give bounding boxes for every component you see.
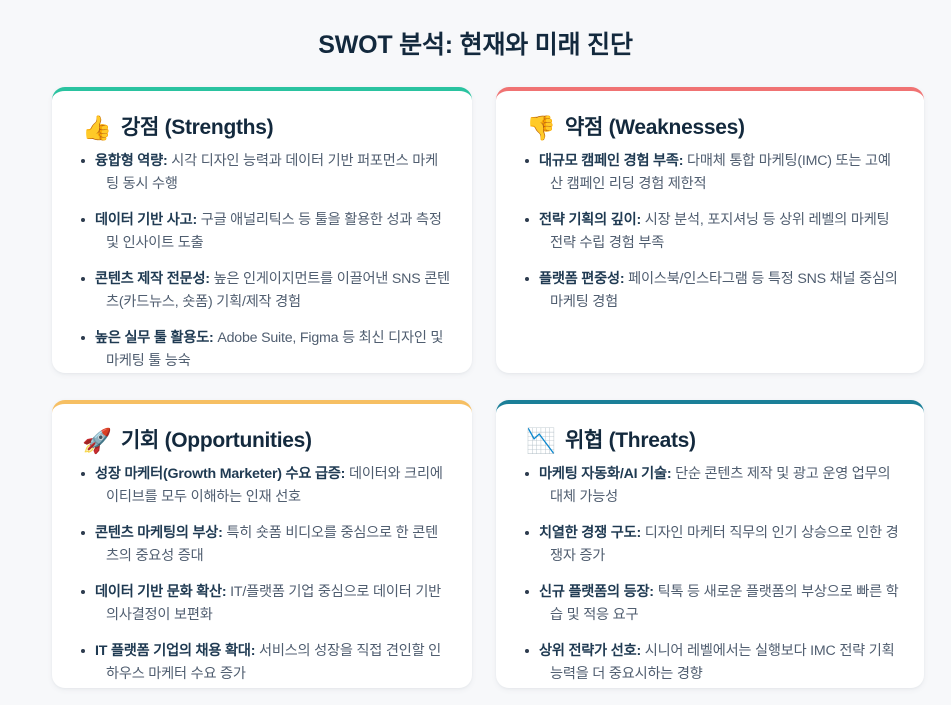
bullet-label: 데이터 기반 문화 확산:	[95, 584, 226, 600]
list-item: 치열한 경쟁 구도: 디자인 마케터 직무의 인기 상승으로 인한 경쟁자 증가	[518, 522, 902, 568]
bullet-label: 상위 전략가 선호:	[539, 643, 641, 659]
card-header-threats: 📉 위협 (Threats)	[526, 428, 902, 453]
list-item: 데이터 기반 사고: 구글 애널리틱스 등 툴을 활용한 성과 측정 및 인사이…	[74, 209, 450, 255]
list-item: 신규 플랫폼의 등장: 틱톡 등 새로운 플랫폼의 부상으로 빠른 학습 및 적…	[518, 581, 902, 627]
list-item: 마케팅 자동화/AI 기술: 단순 콘텐츠 제작 및 광고 운영 업무의 대체 …	[518, 463, 902, 509]
bullet-label: 융합형 역량:	[95, 153, 168, 169]
bullet-label: 데이터 기반 사고:	[95, 212, 197, 228]
bullet-list-opportunities: 성장 마케터(Growth Marketer) 수요 급증: 데이터와 크리에이…	[74, 463, 450, 686]
card-header-weaknesses: 👎 약점 (Weaknesses)	[526, 115, 902, 140]
thumbs-up-icon: 👍	[82, 116, 110, 140]
bullet-label: 콘텐츠 마케팅의 부상:	[95, 525, 223, 541]
list-item: 콘텐츠 마케팅의 부상: 특히 숏폼 비디오를 중심으로 한 콘텐츠의 중요성 …	[74, 522, 450, 568]
rocket-icon: 🚀	[82, 429, 110, 453]
swot-grid: 👍 강점 (Strengths) 융합형 역량: 시각 디자인 능력과 데이터 …	[0, 60, 951, 688]
card-title-weaknesses: 약점 (Weaknesses)	[565, 115, 745, 140]
bullet-label: 치열한 경쟁 구도:	[539, 525, 641, 541]
bullet-list-weaknesses: 대규모 캠페인 경험 부족: 다매체 통합 마케팅(IMC) 또는 고예산 캠페…	[518, 150, 902, 314]
bullet-list-strengths: 융합형 역량: 시각 디자인 능력과 데이터 기반 퍼포먼스 마케팅 동시 수행…	[74, 150, 450, 373]
bullet-label: 콘텐츠 제작 전문성:	[95, 271, 210, 287]
list-item: 성장 마케터(Growth Marketer) 수요 급증: 데이터와 크리에이…	[74, 463, 450, 509]
swot-page: SWOT 분석: 현재와 미래 진단 👍 강점 (Strengths) 융합형 …	[0, 0, 951, 705]
bullet-label: 플랫폼 편중성:	[539, 271, 624, 287]
list-item: 플랫폼 편중성: 페이스북/인스타그램 등 특정 SNS 채널 중심의 마케팅 …	[518, 268, 902, 314]
card-threats: 📉 위협 (Threats) 마케팅 자동화/AI 기술: 단순 콘텐츠 제작 …	[496, 400, 924, 688]
page-title: SWOT 분석: 현재와 미래 진단	[0, 0, 951, 60]
list-item: 융합형 역량: 시각 디자인 능력과 데이터 기반 퍼포먼스 마케팅 동시 수행	[74, 150, 450, 196]
card-header-opportunities: 🚀 기회 (Opportunities)	[82, 428, 450, 453]
card-header-strengths: 👍 강점 (Strengths)	[82, 115, 450, 140]
bullet-label: 전략 기획의 깊이:	[539, 212, 641, 228]
card-opportunities: 🚀 기회 (Opportunities) 성장 마케터(Growth Marke…	[52, 400, 472, 688]
card-title-opportunities: 기회 (Opportunities)	[121, 428, 312, 453]
list-item: IT 플랫폼 기업의 채용 확대: 서비스의 성장을 직접 견인할 인하우스 마…	[74, 640, 450, 686]
list-item: 상위 전략가 선호: 시니어 레벨에서는 실행보다 IMC 전략 기획 능력을 …	[518, 640, 902, 686]
card-weaknesses: 👎 약점 (Weaknesses) 대규모 캠페인 경험 부족: 다매체 통합 …	[496, 87, 924, 373]
thumbs-down-icon: 👎	[526, 116, 554, 140]
list-item: 대규모 캠페인 경험 부족: 다매체 통합 마케팅(IMC) 또는 고예산 캠페…	[518, 150, 902, 196]
list-item: 콘텐츠 제작 전문성: 높은 인게이지먼트를 이끌어낸 SNS 콘텐츠(카드뉴스…	[74, 268, 450, 314]
bullet-label: 신규 플랫폼의 등장:	[539, 584, 654, 600]
bullet-label: 대규모 캠페인 경험 부족:	[539, 153, 683, 169]
list-item: 데이터 기반 문화 확산: IT/플랫폼 기업 중심으로 데이터 기반 의사결정…	[74, 581, 450, 627]
bullet-label: 마케팅 자동화/AI 기술:	[539, 466, 671, 482]
list-item: 전략 기획의 깊이: 시장 분석, 포지셔닝 등 상위 레벨의 마케팅 전략 수…	[518, 209, 902, 255]
card-strengths: 👍 강점 (Strengths) 융합형 역량: 시각 디자인 능력과 데이터 …	[52, 87, 472, 373]
chart-decreasing-icon: 📉	[526, 429, 554, 453]
bullet-label: 높은 실무 툴 활용도:	[95, 330, 214, 346]
card-title-strengths: 강점 (Strengths)	[121, 115, 273, 140]
bullet-list-threats: 마케팅 자동화/AI 기술: 단순 콘텐츠 제작 및 광고 운영 업무의 대체 …	[518, 463, 902, 686]
card-title-threats: 위협 (Threats)	[565, 428, 696, 453]
bullet-label: 성장 마케터(Growth Marketer) 수요 급증:	[95, 466, 345, 482]
list-item: 높은 실무 툴 활용도: Adobe Suite, Figma 등 최신 디자인…	[74, 327, 450, 373]
bullet-label: IT 플랫폼 기업의 채용 확대:	[95, 643, 255, 659]
